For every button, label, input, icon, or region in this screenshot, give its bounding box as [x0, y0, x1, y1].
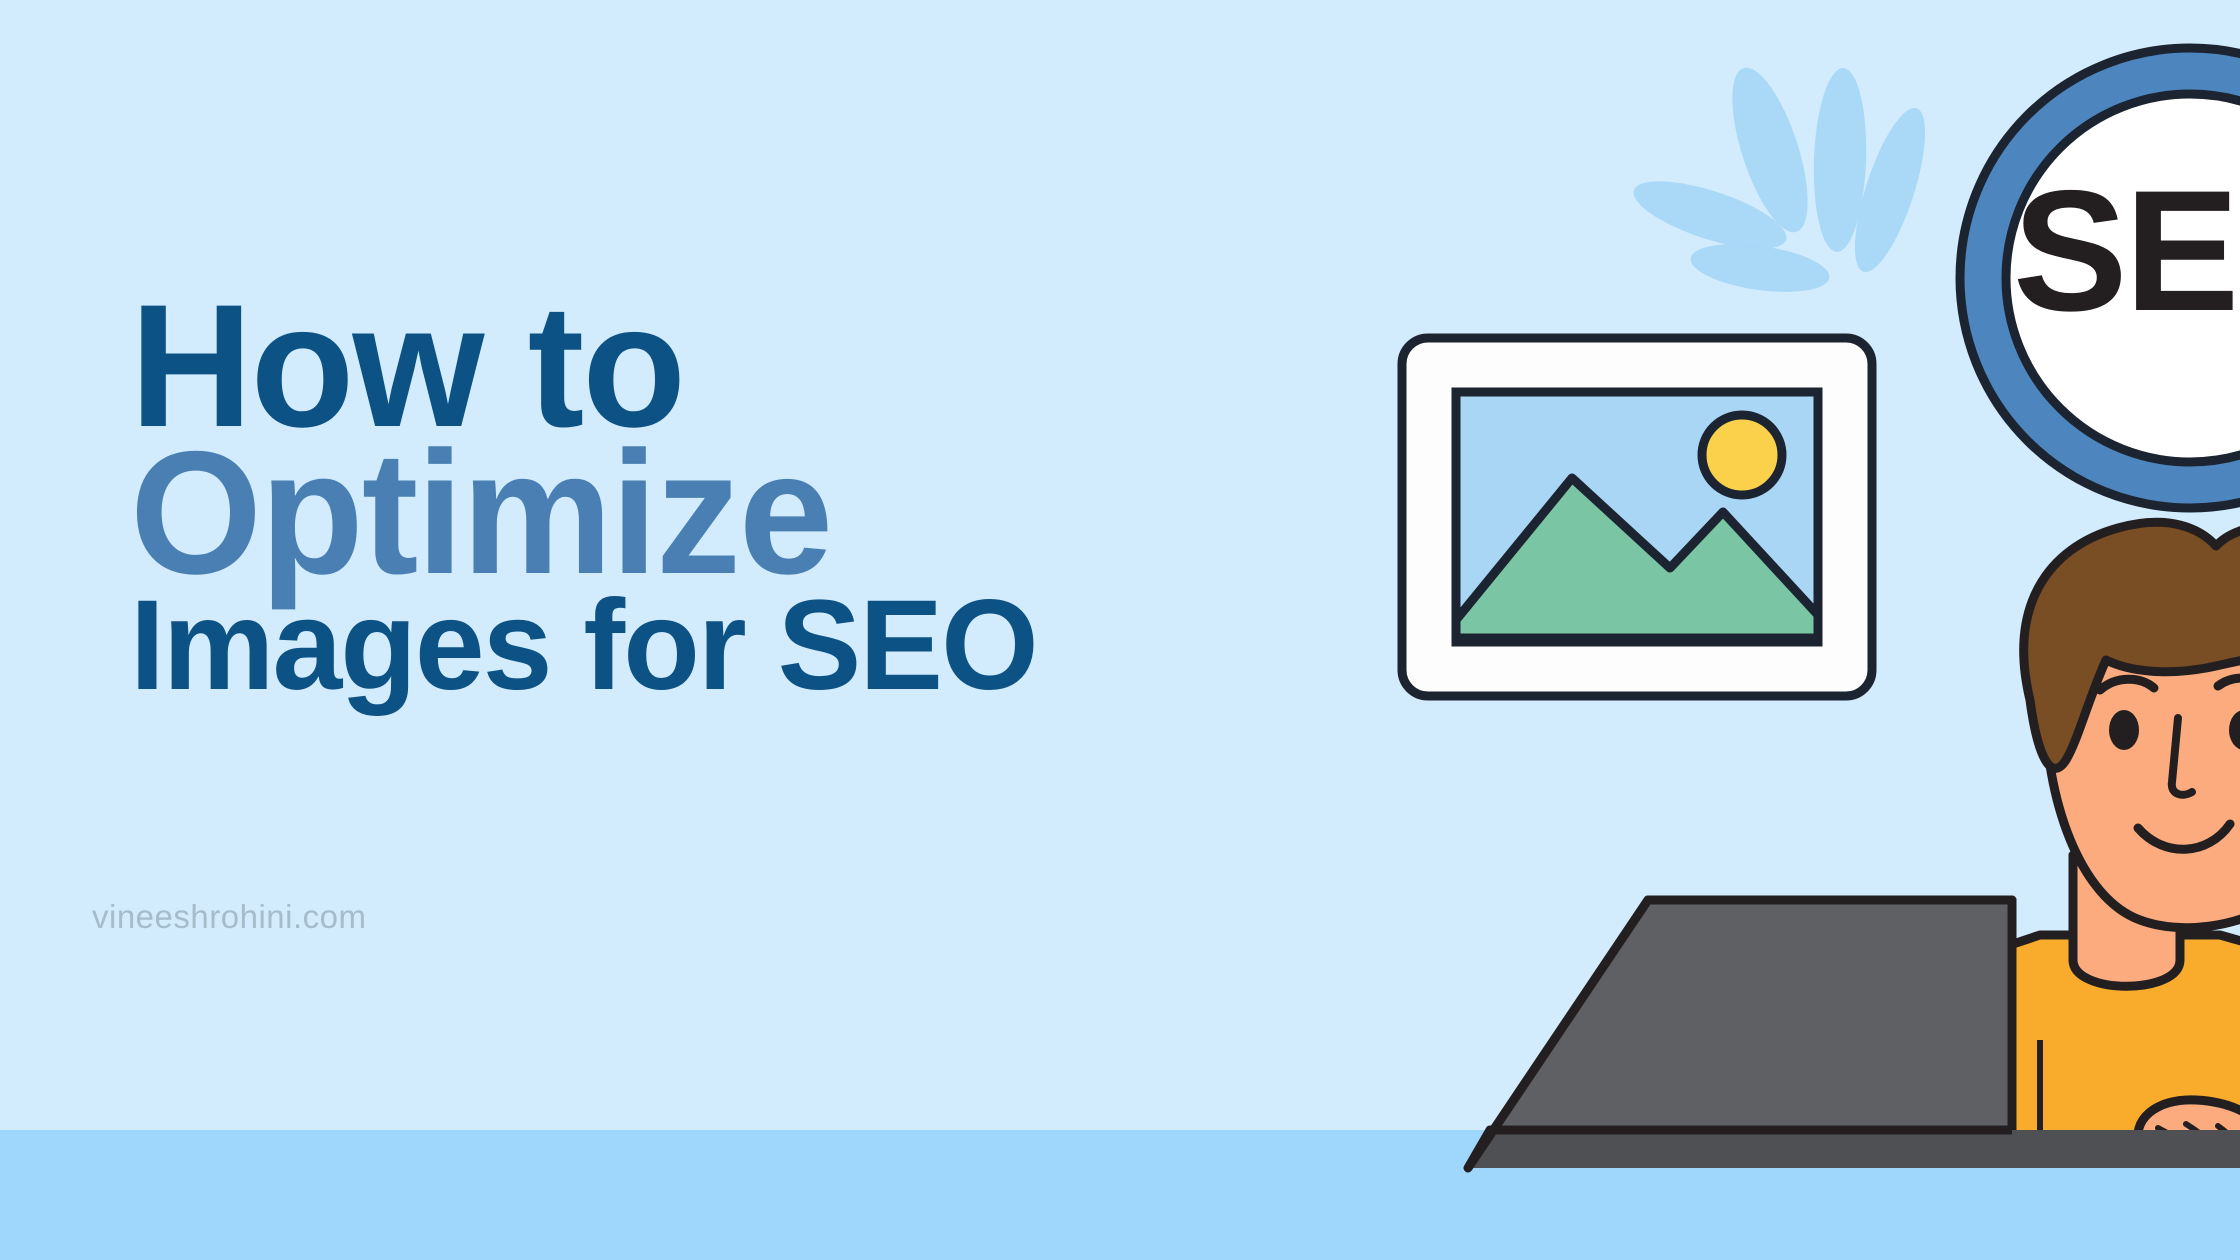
poster-canvas: How to Optimize Images for SEO vineeshro… [0, 0, 2240, 1260]
magnifier-seo-label: SEO [2013, 155, 2240, 347]
headline-line-3: Images for SEO [130, 586, 1326, 705]
hero-illustration: SEO [1340, 0, 2240, 1260]
headline-line-2: Optimize [130, 433, 1313, 596]
page-title: How to Optimize Images for SEO [130, 286, 1350, 705]
photo-image-icon [1402, 338, 1872, 696]
site-watermark: vineeshrohini.com [92, 898, 366, 936]
leaf-decoration-icon [1626, 60, 1939, 300]
